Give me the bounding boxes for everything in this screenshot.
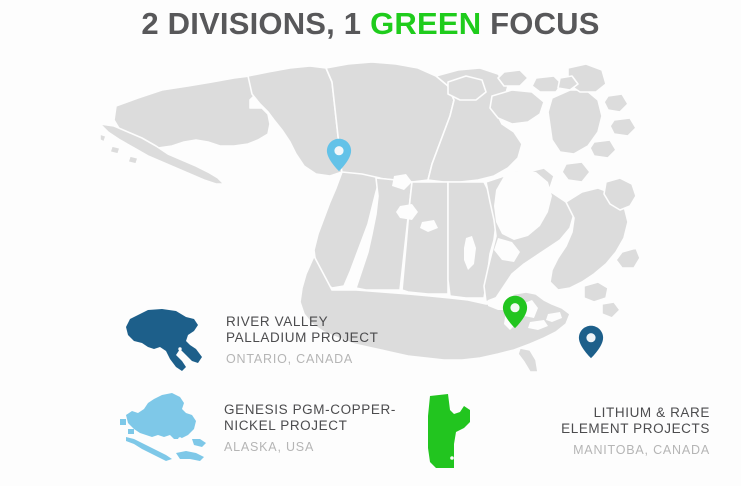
map-region-nova-scotia bbox=[602, 302, 620, 318]
map-pin-icon bbox=[502, 295, 528, 329]
legend-name: GENESIS PGM-COPPER- NICKEL PROJECT bbox=[224, 402, 396, 434]
map-island-newfoundland bbox=[616, 248, 640, 268]
legend-region: ALASKA, USA bbox=[224, 440, 396, 455]
map-island-banks bbox=[448, 76, 486, 100]
legend-region: MANITOBA, CANADA bbox=[498, 443, 710, 458]
legend-item-lithium[interactable]: LITHIUM & RARE ELEMENT PROJECTS MANITOBA… bbox=[420, 388, 710, 474]
legend-region: ONTARIO, CANADA bbox=[226, 352, 378, 367]
map-island-devon bbox=[532, 76, 562, 92]
legend-text-genesis: GENESIS PGM-COPPER- NICKEL PROJECT ALASK… bbox=[224, 402, 396, 455]
legend-name: LITHIUM & RARE ELEMENT PROJECTS bbox=[498, 405, 710, 437]
map-island-arctic-4 bbox=[590, 140, 616, 158]
manitoba-province-icon bbox=[420, 388, 476, 474]
legend-text-lithium: LITHIUM & RARE ELEMENT PROJECTS MANITOBA… bbox=[498, 405, 710, 458]
page-title: 2 DIVISIONS, 1 GREEN FOCUS bbox=[0, 6, 741, 42]
alaska-state-icon bbox=[118, 389, 210, 467]
page-title-prefix: 2 DIVISIONS, 1 bbox=[141, 6, 370, 41]
map-island-aleutian-3 bbox=[128, 156, 138, 164]
map-island-aleutian-2 bbox=[110, 146, 120, 154]
infographic-canvas: 2 DIVISIONS, 1 GREEN FOCUS bbox=[0, 0, 741, 486]
map-region-maritimes bbox=[584, 282, 608, 302]
legend-name: RIVER VALLEY PALLADIUM PROJECT bbox=[226, 314, 378, 346]
map-island-victoria bbox=[490, 90, 544, 124]
map-pin-manitoba[interactable] bbox=[502, 295, 528, 329]
ontario-province-icon bbox=[124, 305, 208, 375]
map-pin-icon bbox=[578, 325, 604, 359]
map-region-florida bbox=[518, 348, 538, 372]
legend-item-genesis[interactable]: GENESIS PGM-COPPER- NICKEL PROJECT ALASK… bbox=[118, 389, 396, 467]
map-island-melville bbox=[498, 70, 528, 86]
map-island-arctic-3 bbox=[562, 162, 590, 182]
map-island-arctic-2 bbox=[610, 118, 636, 136]
legend-text-river-valley: RIVER VALLEY PALLADIUM PROJECT ONTARIO, … bbox=[226, 314, 378, 367]
map-pin-ontario[interactable] bbox=[578, 325, 604, 359]
map-pin-alaska[interactable] bbox=[326, 138, 352, 172]
legend-item-river-valley[interactable]: RIVER VALLEY PALLADIUM PROJECT ONTARIO, … bbox=[124, 305, 378, 375]
map-island-aleutian-1 bbox=[100, 134, 106, 142]
page-title-suffix: FOCUS bbox=[481, 6, 599, 41]
map-island-arctic-1 bbox=[604, 94, 628, 112]
page-title-highlight: GREEN bbox=[370, 6, 481, 41]
map-pin-icon bbox=[326, 138, 352, 172]
